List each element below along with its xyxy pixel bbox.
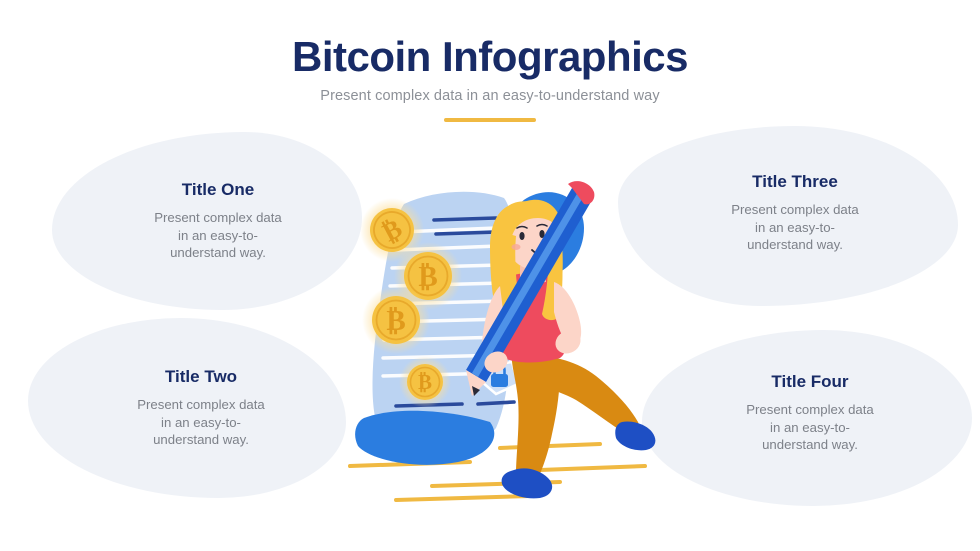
blob-two-title: Title Two <box>165 367 237 387</box>
info-blob-two[interactable]: Title Two Present complex data in an eas… <box>28 318 346 498</box>
blob-four-body: Present complex data in an easy-to- unde… <box>746 401 874 454</box>
svg-text:₿: ₿ <box>418 261 437 293</box>
blob-one-body: Present complex data in an easy-to- unde… <box>154 209 282 262</box>
blob-one-body-line: in an easy-to- <box>154 227 282 245</box>
blob-three-title: Title Three <box>752 172 838 192</box>
page-subtitle: Present complex data in an easy-to-under… <box>0 88 980 104</box>
blob-four-title: Title Four <box>771 372 848 392</box>
shoe-back <box>615 421 655 450</box>
bitcoin-coin-document: ₿ <box>399 356 451 408</box>
blob-four-body-line: understand way. <box>746 436 874 454</box>
blob-four-body-line: in an easy-to- <box>746 419 874 437</box>
header: Bitcoin Infographics Present complex dat… <box>0 34 980 122</box>
blob-three-body-line: in an easy-to- <box>731 219 859 237</box>
accent-divider <box>444 118 536 122</box>
blob-three-body: Present complex data in an easy-to- unde… <box>731 201 859 254</box>
blob-one-title: Title One <box>182 180 254 200</box>
blob-two-body-line: understand way. <box>137 431 265 449</box>
blob-four-body-line: Present complex data <box>746 401 874 419</box>
svg-text:₿: ₿ <box>418 370 432 394</box>
blob-two-body: Present complex data in an easy-to- unde… <box>137 396 265 449</box>
blob-one-body-line: understand way. <box>154 244 282 262</box>
blob-one-body-line: Present complex data <box>154 209 282 227</box>
page-title: Bitcoin Infographics <box>0 34 980 80</box>
bitcoin-coin-bottom: ₿ <box>362 286 430 354</box>
slide-canvas: Bitcoin Infographics Present complex dat… <box>0 0 980 551</box>
info-blob-four[interactable]: Title Four Present complex data in an ea… <box>642 330 972 506</box>
blob-three-body-line: understand way. <box>731 236 859 254</box>
central-illustration: ₿ ₿ ₿ <box>300 170 680 510</box>
blob-two-body-line: in an easy-to- <box>137 414 265 432</box>
blob-two-body-line: Present complex data <box>137 396 265 414</box>
shoe-front <box>502 468 553 498</box>
svg-text:₿: ₿ <box>386 305 405 337</box>
leg-front <box>512 349 560 482</box>
blob-three-body-line: Present complex data <box>731 201 859 219</box>
